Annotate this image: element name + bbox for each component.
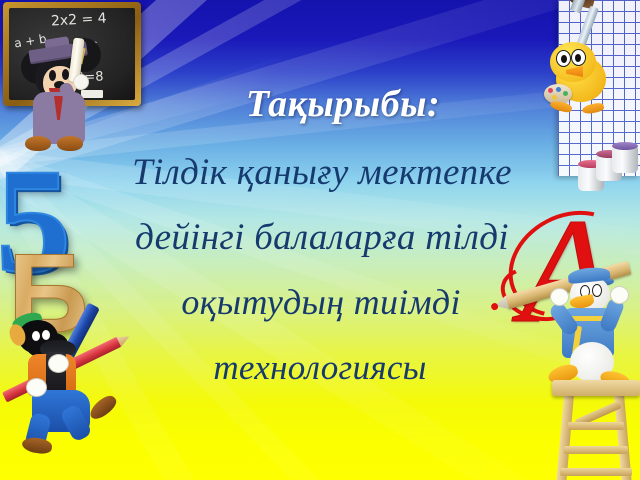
slide-text-area: Тақырыбы: Тілдік қанығу мектепке дейінгі…	[0, 0, 640, 480]
subject-line: дейінгі балаларға тілді	[0, 205, 640, 270]
subject-line: Тілдік қанығу мектепке	[0, 140, 640, 205]
slide-subject-title: Тілдік қанығу мектепке дейінгі балаларға…	[0, 140, 640, 400]
slide-heading: Тақырыбы:	[0, 82, 640, 126]
presentation-slide: a + b 2x2 = 4 =16 4)=8	[0, 0, 640, 480]
subject-line: технологиясы	[0, 335, 640, 400]
subject-line: оқытудың тиімді	[0, 270, 640, 335]
